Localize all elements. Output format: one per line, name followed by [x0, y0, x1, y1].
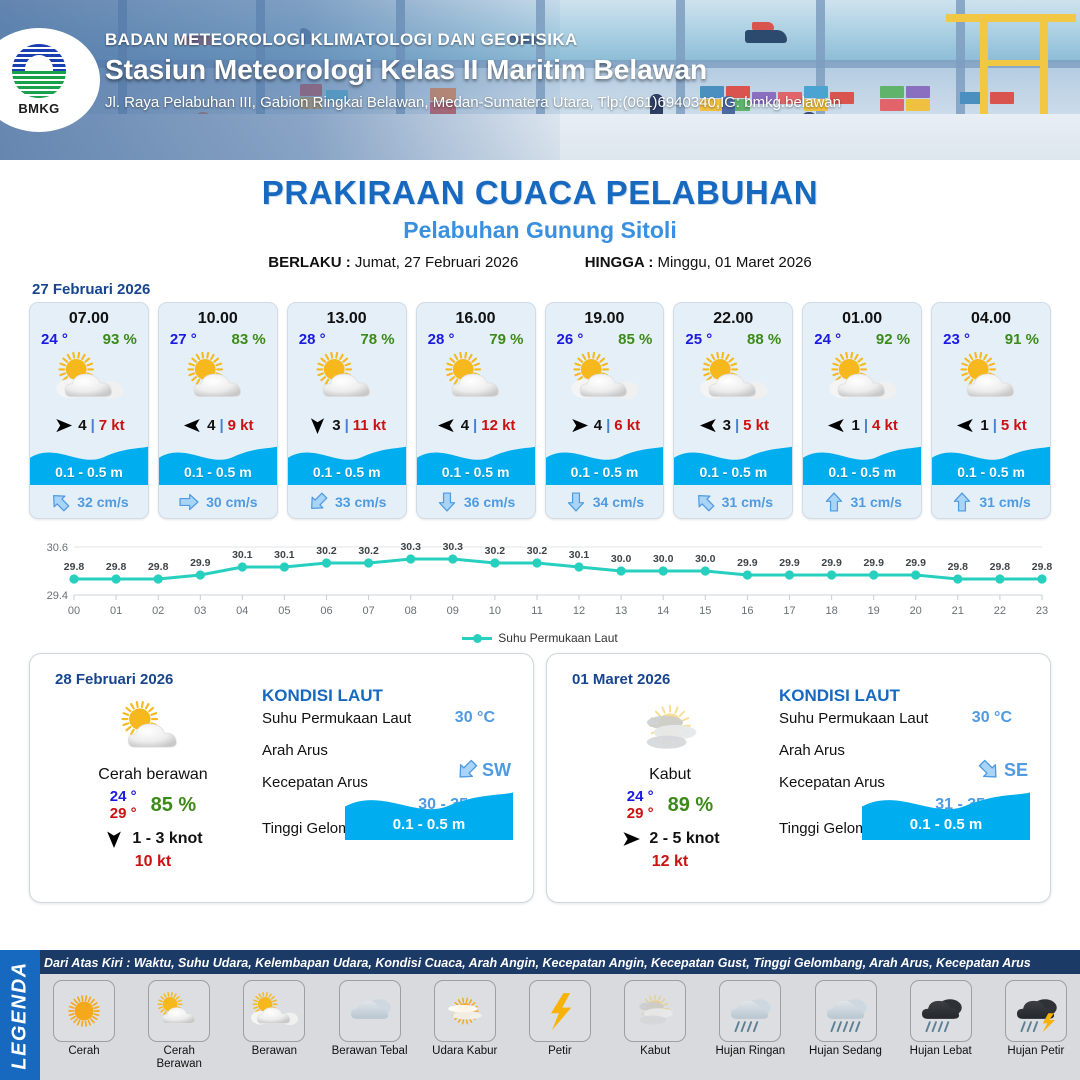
card-temperature: 25 ° [685, 331, 712, 348]
wind-separator: | [993, 417, 997, 434]
svg-text:30.6: 30.6 [47, 542, 68, 554]
legend-bar: LEGENDA Dari Atas Kiri : Waktu, Suhu Uda… [0, 950, 1080, 1080]
panel-temp-max: 29 ° [110, 805, 137, 822]
legend-icon-box [529, 980, 591, 1042]
svg-text:30.3: 30.3 [443, 541, 464, 553]
card-temperature: 27 ° [170, 331, 197, 348]
svg-text:17: 17 [783, 605, 795, 617]
panel-weather-block: Kabut 24 ° 29 ° 89 % 2 - 5 knot 12 kt [565, 696, 775, 871]
current-direction-arrow-icon [178, 491, 200, 513]
card-temperature: 24 ° [41, 331, 68, 348]
forecast-card[interactable]: 19.00 26 ° 85 % 4 | 6 kt 0.1 - 0.5 m [545, 302, 665, 519]
header-crane-icon [946, 14, 1076, 22]
current-speed: 31 cm/s [851, 494, 902, 510]
valid-from-label: BERLAKU : [268, 254, 351, 271]
panel-condition: Kabut [565, 766, 775, 784]
legend-item-label: Hujan Sedang [808, 1045, 884, 1058]
weather-icon [288, 348, 406, 410]
svg-text:29.8: 29.8 [948, 561, 969, 573]
current-speed: 31 cm/s [722, 494, 773, 510]
rain-heavy-icon [913, 983, 969, 1039]
legend-item: Udara Kabur [427, 980, 503, 1058]
svg-text:30.0: 30.0 [653, 553, 674, 565]
sea-sst-row: Suhu Permukaan Laut 30 °C [262, 706, 519, 738]
logo-text: BMKG [18, 101, 59, 116]
legend-icon-box [243, 980, 305, 1042]
panel-temp-hum: 24 ° 29 ° 85 % [48, 788, 258, 822]
legend-icon-box [339, 980, 401, 1042]
wind-direction-arrow-icon [569, 415, 590, 436]
svg-text:18: 18 [825, 605, 837, 617]
card-time: 16.00 [417, 303, 535, 328]
svg-text:29.9: 29.9 [821, 557, 842, 569]
current-direction-arrow-icon [694, 491, 716, 513]
panel-humidity: 85 % [151, 794, 197, 817]
valid-to-label: HINGGA : [585, 254, 654, 271]
svg-text:14: 14 [657, 605, 669, 617]
sea-sst-label: Suhu Permukaan Laut [779, 710, 928, 727]
legend-item-label: Berawan [236, 1045, 312, 1058]
wind-gust: 12 kt [481, 417, 515, 434]
wind-gust: 5 kt [1001, 417, 1027, 434]
valid-to-value: Minggu, 01 Maret 2026 [657, 254, 811, 271]
forecast-card[interactable]: 07.00 24 ° 93 % 4 | 7 kt 0.1 - 0.5 m [29, 302, 149, 519]
card-current: 30 cm/s [159, 485, 277, 518]
chart-legend-label: Suhu Permukaan Laut [498, 631, 617, 645]
card-temperature: 28 ° [299, 331, 326, 348]
card-time: 13.00 [288, 303, 406, 328]
wind-direction-arrow-icon [620, 828, 642, 850]
current-direction-arrow-icon [307, 491, 329, 513]
card-current: 31 cm/s [803, 485, 921, 518]
sea-sst-value: 30 °C [972, 709, 1012, 727]
sea-current-dir-label: Arah Arus [779, 742, 845, 759]
wind-direction-arrow-icon [307, 415, 328, 436]
svg-text:29.8: 29.8 [990, 561, 1011, 573]
svg-text:15: 15 [699, 605, 711, 617]
card-wave: 0.1 - 0.5 m [159, 441, 277, 485]
weather-icon [30, 348, 148, 410]
current-speed: 36 cm/s [464, 494, 515, 510]
weather-icon [803, 348, 921, 410]
wave-height: 0.1 - 0.5 m [546, 464, 664, 480]
rain-light-icon [722, 983, 778, 1039]
wind-separator: | [606, 417, 610, 434]
port-name: Pelabuhan Gunung Sitoli [0, 217, 1080, 244]
wind-direction-arrow-icon [53, 415, 74, 436]
card-temperature: 26 ° [557, 331, 584, 348]
header-container-icon [990, 92, 1014, 104]
header-container-icon [880, 99, 904, 111]
sun-clouds-icon [246, 983, 302, 1039]
panel-temp-min: 24 ° [110, 788, 137, 805]
legend-item-label: Petir [522, 1045, 598, 1058]
svg-text:19: 19 [868, 605, 880, 617]
sun-cloud-icon [151, 983, 207, 1039]
svg-text:10: 10 [489, 605, 501, 617]
hourly-forecast-row: 07.00 24 ° 93 % 4 | 7 kt 0.1 - 0.5 m [0, 302, 1080, 519]
legend-icon-box [1005, 980, 1067, 1042]
legend-icon-box [910, 980, 972, 1042]
chart-legend-marker [462, 637, 492, 640]
logo-green-stripes [12, 71, 66, 98]
legend-item-label: Kabut [617, 1045, 693, 1058]
wind-speed: 4 [594, 417, 602, 434]
svg-text:21: 21 [952, 605, 964, 617]
svg-text:30.1: 30.1 [569, 549, 590, 561]
card-humidity: 92 % [876, 331, 910, 348]
forecast-card[interactable]: 22.00 25 ° 88 % 3 | 5 kt 0.1 - 0.5 m [673, 302, 793, 519]
svg-text:07: 07 [362, 605, 374, 617]
card-time: 04.00 [932, 303, 1050, 328]
card-time: 07.00 [30, 303, 148, 328]
svg-text:30.2: 30.2 [485, 545, 506, 557]
wave-height: 0.1 - 0.5 m [932, 464, 1050, 480]
svg-text:29.4: 29.4 [47, 590, 68, 602]
panel-temp-max: 29 ° [627, 805, 654, 822]
header-container-icon [880, 86, 904, 98]
sea-condition-heading: KONDISI LAUT [262, 686, 519, 706]
svg-text:29.9: 29.9 [190, 557, 211, 569]
weather-icon [674, 348, 792, 410]
card-temperature: 23 ° [943, 331, 970, 348]
card-wind: 3 | 11 kt [288, 410, 406, 441]
panel-wind-range: 1 - 3 knot [132, 830, 202, 848]
title-block: PRAKIRAAN CUACA PELABUHAN Pelabuhan Gunu… [0, 160, 1080, 271]
agency-name: BADAN METEOROLOGI KLIMATOLOGI DAN GEOFIS… [105, 30, 841, 50]
header-crane-icon [988, 60, 1044, 66]
wind-gust: 4 kt [872, 417, 898, 434]
svg-text:12: 12 [573, 605, 585, 617]
svg-text:20: 20 [910, 605, 922, 617]
sea-condition-block: KONDISI LAUT Suhu Permukaan Laut 30 °C A… [779, 686, 1036, 848]
wind-gust: 11 kt [353, 417, 386, 434]
panel-temps: 24 ° 29 ° [627, 788, 654, 822]
wind-speed: 1 [851, 417, 859, 434]
card-wave: 0.1 - 0.5 m [417, 441, 535, 485]
forecast-card[interactable]: 10.00 27 ° 83 % 4 | 9 kt 0.1 - 0.5 m [158, 302, 278, 519]
card-wave: 0.1 - 0.5 m [30, 441, 148, 485]
svg-text:05: 05 [278, 605, 290, 617]
svg-text:30.0: 30.0 [611, 553, 632, 565]
legend-side-title: LEGENDA [0, 950, 40, 1080]
weather-icon [565, 696, 775, 762]
card-time: 10.00 [159, 303, 277, 328]
valid-from-value: Jumat, 27 Februari 2026 [355, 254, 518, 271]
legend-item: Petir [522, 980, 598, 1058]
wind-gust: 9 kt [228, 417, 254, 434]
legend-side-text: LEGENDA [9, 961, 32, 1069]
daily-summary-panel[interactable]: 28 Februari 2026 Cerah berawan 24 ° 29 °… [29, 653, 534, 903]
wind-separator: | [864, 417, 868, 434]
svg-text:30.2: 30.2 [527, 545, 548, 557]
legend-items: Cerah Cerah Berawan Berawan [40, 974, 1080, 1080]
card-humidity: 83 % [232, 331, 266, 348]
panel-wind-gust: 10 kt [48, 853, 258, 871]
card-wave: 0.1 - 0.5 m [674, 441, 792, 485]
legend-icon-box [434, 980, 496, 1042]
card-time: 19.00 [546, 303, 664, 328]
wind-direction-arrow-icon [826, 415, 847, 436]
fog-icon [627, 983, 683, 1039]
svg-text:22: 22 [994, 605, 1006, 617]
svg-text:30.2: 30.2 [316, 545, 337, 557]
panel-weather-block: Cerah berawan 24 ° 29 ° 85 % 1 - 3 knot … [48, 696, 258, 871]
card-wind: 4 | 9 kt [159, 410, 277, 441]
weather-icon [417, 348, 535, 410]
legend-item: Hujan Lebat [903, 980, 979, 1058]
svg-text:13: 13 [615, 605, 627, 617]
svg-text:29.8: 29.8 [148, 561, 169, 573]
wave-height: 0.1 - 0.5 m [803, 464, 921, 480]
bmkg-logo-mark [12, 44, 66, 98]
sea-current-dir-label: Arah Arus [262, 742, 328, 759]
card-wave: 0.1 - 0.5 m [288, 441, 406, 485]
wind-speed: 3 [332, 417, 340, 434]
wind-speed: 4 [207, 417, 215, 434]
wind-gust: 7 kt [99, 417, 125, 434]
card-temperature: 24 ° [814, 331, 841, 348]
card-wind: 1 | 4 kt [803, 410, 921, 441]
wind-speed: 3 [723, 417, 731, 434]
station-name: Stasiun Meteorologi Kelas II Maritim Bel… [105, 54, 841, 86]
legend-item: Hujan Sedang [808, 980, 884, 1058]
panel-condition: Cerah berawan [48, 766, 258, 784]
svg-text:29.9: 29.9 [779, 557, 800, 569]
wind-gust: 6 kt [614, 417, 640, 434]
legend-item-label: Hujan Lebat [903, 1045, 979, 1058]
panel-humidity: 89 % [668, 794, 714, 817]
header-crane-icon [980, 18, 988, 118]
svg-text:30.3: 30.3 [400, 541, 421, 553]
current-direction-arrow-icon [951, 491, 973, 513]
forecast-card[interactable]: 01.00 24 ° 92 % 1 | 4 kt 0.1 - 0.5 m [802, 302, 922, 519]
sst-chart-svg: 30.629.429.80029.80129.80229.90330.10430… [28, 533, 1052, 623]
svg-text:00: 00 [68, 605, 80, 617]
panel-date: 01 Maret 2026 [572, 671, 670, 688]
current-speed: 33 cm/s [335, 494, 386, 510]
svg-text:30.1: 30.1 [232, 549, 253, 561]
svg-text:02: 02 [152, 605, 164, 617]
card-current: 31 cm/s [674, 485, 792, 518]
sea-condition-heading: KONDISI LAUT [779, 686, 1036, 706]
card-current: 36 cm/s [417, 485, 535, 518]
legend-item: Hujan Ringan [712, 980, 788, 1058]
header-crane-icon [1040, 18, 1048, 118]
current-speed: 31 cm/s [979, 494, 1030, 510]
svg-text:03: 03 [194, 605, 206, 617]
panel-wind: 2 - 5 knot [565, 828, 775, 850]
card-wind: 4 | 12 kt [417, 410, 535, 441]
card-wind: 1 | 5 kt [932, 410, 1050, 441]
legend-note: Dari Atas Kiri : Waktu, Suhu Udara, Kele… [40, 950, 1080, 974]
panel-temps: 24 ° 29 ° [110, 788, 137, 822]
panel-date: 28 Februari 2026 [55, 671, 173, 688]
weather-icon [159, 348, 277, 410]
forecast-card[interactable]: 04.00 23 ° 91 % 1 | 5 kt 0.1 - 0.5 m [931, 302, 1051, 519]
legend-item-label: Udara Kabur [427, 1045, 503, 1058]
daily-summary-row: 28 Februari 2026 Cerah berawan 24 ° 29 °… [0, 645, 1080, 903]
sea-sst-row: Suhu Permukaan Laut 30 °C [779, 706, 1036, 738]
card-temp-hum: 26 ° 85 % [546, 328, 664, 348]
wind-direction-arrow-icon [955, 415, 976, 436]
svg-text:01: 01 [110, 605, 122, 617]
wave-height: 0.1 - 0.5 m [288, 464, 406, 480]
card-temp-hum: 24 ° 92 % [803, 328, 921, 348]
sea-wave-graphic: 0.1 - 0.5 m [862, 786, 1030, 840]
wind-gust: 5 kt [743, 417, 769, 434]
header-ship-icon [752, 22, 774, 30]
card-wave: 0.1 - 0.5 m [546, 441, 664, 485]
wind-separator: | [219, 417, 223, 434]
card-wave: 0.1 - 0.5 m [932, 441, 1050, 485]
legend-icon-box [815, 980, 877, 1042]
panel-wind: 1 - 3 knot [48, 828, 258, 850]
panel-temp-min: 24 ° [627, 788, 654, 805]
wind-separator: | [91, 417, 95, 434]
legend-icon-box [148, 980, 210, 1042]
legend-icon-box [719, 980, 781, 1042]
svg-text:29.8: 29.8 [1032, 561, 1052, 573]
sea-current-dir-row: Arah Arus SE [779, 738, 1036, 770]
svg-text:08: 08 [405, 605, 417, 617]
legend-item: Cerah [46, 980, 122, 1058]
lightning-icon [532, 983, 588, 1039]
chart-legend: Suhu Permukaan Laut [0, 631, 1080, 645]
wind-separator: | [473, 417, 477, 434]
card-temp-hum: 28 ° 79 % [417, 328, 535, 348]
sea-current-dir-row: Arah Arus SW [262, 738, 519, 770]
sea-wave-graphic: 0.1 - 0.5 m [345, 786, 513, 840]
wave-height: 0.1 - 0.5 m [417, 464, 535, 480]
card-current: 33 cm/s [288, 485, 406, 518]
sea-wave-value: 0.1 - 0.5 m [345, 816, 513, 833]
svg-text:09: 09 [447, 605, 459, 617]
sea-sst-label: Suhu Permukaan Laut [262, 710, 411, 727]
header-container-icon [906, 86, 930, 98]
card-time: 22.00 [674, 303, 792, 328]
svg-text:11: 11 [531, 605, 542, 617]
current-direction-arrow-icon [823, 491, 845, 513]
legend-item: Kabut [617, 980, 693, 1058]
panel-wind-gust: 12 kt [565, 853, 775, 871]
forecast-card[interactable]: 16.00 28 ° 79 % 4 | 12 kt 0.1 - 0.5 m [416, 302, 536, 519]
wind-separator: | [345, 417, 349, 434]
svg-text:29.8: 29.8 [106, 561, 127, 573]
card-temp-hum: 25 ° 88 % [674, 328, 792, 348]
legend-icon-box [624, 980, 686, 1042]
current-direction-arrow-icon [565, 491, 587, 513]
wave-height: 0.1 - 0.5 m [30, 464, 148, 480]
panel-wind-range: 2 - 5 knot [649, 830, 719, 848]
legend-item-label: Cerah Berawan [141, 1045, 217, 1070]
legend-item: Berawan [236, 980, 312, 1058]
card-humidity: 79 % [489, 331, 523, 348]
wind-direction-arrow-icon [182, 415, 203, 436]
wave-height: 0.1 - 0.5 m [159, 464, 277, 480]
card-wind: 4 | 6 kt [546, 410, 664, 441]
card-time: 01.00 [803, 303, 921, 328]
wind-speed: 4 [461, 417, 469, 434]
daily-summary-panel[interactable]: 01 Maret 2026 Kabut 24 ° 29 ° 89 % 2 - 5… [546, 653, 1051, 903]
panel-temp-hum: 24 ° 29 ° 89 % [565, 788, 775, 822]
wind-direction-arrow-icon [436, 415, 457, 436]
card-temperature: 28 ° [428, 331, 455, 348]
card-humidity: 91 % [1005, 331, 1039, 348]
current-speed: 30 cm/s [206, 494, 257, 510]
card-temp-hum: 27 ° 83 % [159, 328, 277, 348]
card-current: 31 cm/s [932, 485, 1050, 518]
svg-text:16: 16 [741, 605, 753, 617]
weather-icon [48, 696, 258, 762]
card-humidity: 88 % [747, 331, 781, 348]
legend-item: Cerah Berawan [141, 980, 217, 1070]
wind-direction-arrow-icon [698, 415, 719, 436]
card-temp-hum: 28 ° 78 % [288, 328, 406, 348]
svg-text:30.2: 30.2 [358, 545, 379, 557]
sea-wave-value: 0.1 - 0.5 m [862, 816, 1030, 833]
svg-text:30.1: 30.1 [274, 549, 295, 561]
card-humidity: 93 % [103, 331, 137, 348]
header-text-group: BADAN METEOROLOGI KLIMATOLOGI DAN GEOFIS… [105, 30, 841, 111]
rain-thunder-icon [1008, 983, 1064, 1039]
current-speed: 34 cm/s [593, 494, 644, 510]
legend-item-label: Berawan Tebal [332, 1045, 408, 1058]
weather-icon [932, 348, 1050, 410]
card-temp-hum: 23 ° 91 % [932, 328, 1050, 348]
legend-item: Berawan Tebal [332, 980, 408, 1058]
svg-text:29.9: 29.9 [863, 557, 884, 569]
current-direction-arrow-icon [436, 491, 458, 513]
weather-icon [546, 348, 664, 410]
legend-item-label: Hujan Petir [998, 1045, 1074, 1058]
wave-height: 0.1 - 0.5 m [674, 464, 792, 480]
sea-condition-block: KONDISI LAUT Suhu Permukaan Laut 30 °C A… [262, 686, 519, 848]
wind-direction-arrow-icon [103, 828, 125, 850]
svg-text:30.0: 30.0 [695, 553, 716, 565]
header-container-icon [906, 99, 930, 111]
page-title: PRAKIRAAN CUACA PELABUHAN [0, 174, 1080, 212]
svg-text:29.8: 29.8 [64, 561, 85, 573]
sea-sst-value: 30 °C [455, 709, 495, 727]
card-humidity: 78 % [360, 331, 394, 348]
wind-speed: 4 [78, 417, 86, 434]
card-wind: 3 | 5 kt [674, 410, 792, 441]
haze-icon [437, 983, 493, 1039]
rain-moderate-icon [818, 983, 874, 1039]
legend-icon-box [53, 980, 115, 1042]
sun-icon [56, 983, 112, 1039]
card-temp-hum: 24 ° 93 % [30, 328, 148, 348]
legend-body: Dari Atas Kiri : Waktu, Suhu Udara, Kele… [40, 950, 1080, 1080]
card-wind: 4 | 7 kt [30, 410, 148, 441]
card-current: 34 cm/s [546, 485, 664, 518]
forecast-card[interactable]: 13.00 28 ° 78 % 3 | 11 kt 0.1 - 0.5 m [287, 302, 407, 519]
sst-chart: 30.629.429.80029.80129.80229.90330.10430… [28, 533, 1052, 629]
legend-item: Hujan Petir [998, 980, 1074, 1058]
current-speed: 32 cm/s [77, 494, 128, 510]
svg-text:29.9: 29.9 [905, 557, 926, 569]
card-humidity: 85 % [618, 331, 652, 348]
current-direction-arrow-icon [49, 491, 71, 513]
svg-text:04: 04 [236, 605, 248, 617]
wind-speed: 1 [980, 417, 988, 434]
wind-separator: | [735, 417, 739, 434]
legend-item-label: Cerah [46, 1045, 122, 1058]
card-current: 32 cm/s [30, 485, 148, 518]
svg-text:06: 06 [320, 605, 332, 617]
legend-item-label: Hujan Ringan [712, 1045, 788, 1058]
